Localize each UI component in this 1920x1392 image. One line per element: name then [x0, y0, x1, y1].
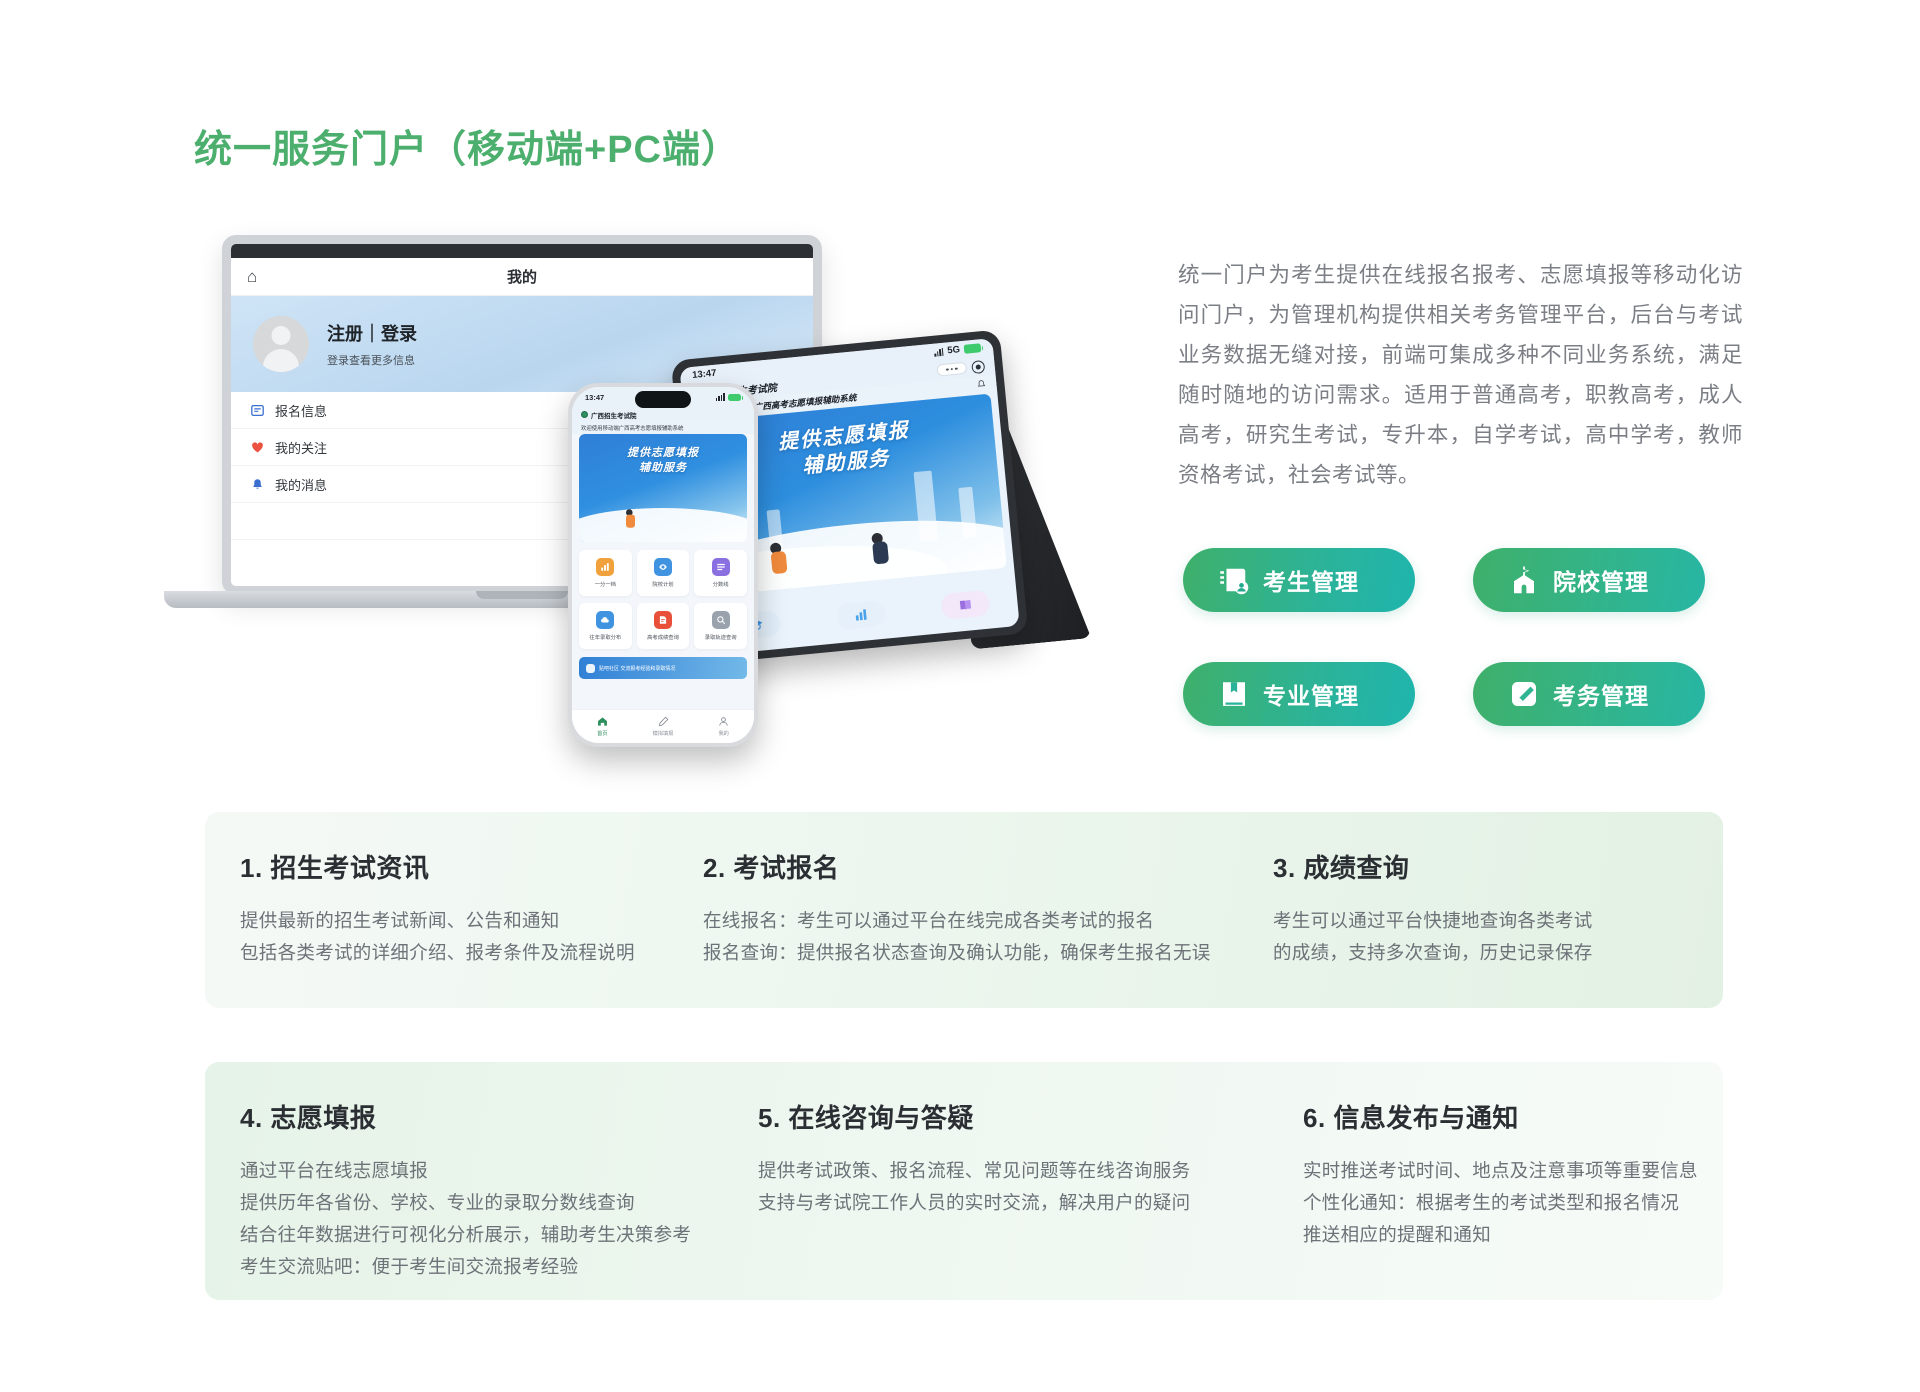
phone-tab-bar[interactable]: 首页 模拟填报 我的	[572, 709, 754, 743]
battery-icon	[964, 343, 982, 354]
feature-card-line: 提供历年各省份、学校、专业的录取分数线查询	[240, 1187, 745, 1219]
laptop-menu-label: 我的关注	[275, 438, 327, 457]
feature-cards-row-1: 1. 招生考试资讯 提供最新的招生考试新闻、公告和通知 包括各类考试的详细介绍、…	[205, 812, 1723, 1008]
laptop-menu-label: 报名信息	[275, 401, 327, 420]
grid-item[interactable]: 录取轨迹查询	[694, 603, 747, 649]
tablet-network-label: 5G	[947, 344, 961, 356]
eye-icon	[654, 558, 672, 576]
laptop-navbar: ⌂ 我的	[231, 258, 813, 296]
grid-item[interactable]: 高考成绩查询	[637, 603, 690, 649]
promo-text: 贴吧社区 交流报考经验和录取情况	[599, 665, 675, 672]
feature-card-line: 考生可以通过平台快捷地查询各类考试	[1273, 905, 1723, 937]
edit-icon	[658, 716, 669, 727]
feature-card-line: 通过平台在线志愿填报	[240, 1155, 745, 1187]
student-figure	[770, 542, 788, 574]
poster-page: 统一服务门户（移动端+PC端） ⌂ 我的 注册｜登录 登录查看更多信息	[0, 0, 1920, 1392]
phone-tab-label: 模拟填报	[653, 730, 674, 737]
button-label: 院校管理	[1553, 563, 1649, 597]
feature-card-line: 个性化通知：根据考生的考试类型和报名情况	[1303, 1187, 1723, 1219]
phone-tab-label: 首页	[597, 730, 607, 737]
phone-brand-label: 广西招生考试院	[591, 410, 637, 420]
phone-promo-banner[interactable]: 贴吧社区 交流报考经验和录取情况	[579, 657, 747, 679]
candidate-card-icon	[1219, 565, 1249, 595]
feature-card-line: 提供考试政策、报名流程、常见问题等在线咨询服务	[758, 1155, 1290, 1187]
phone-welcome-text: 欢迎使用移动端广西高考志愿填报辅助系统	[572, 422, 754, 434]
school-management-button[interactable]: 院校管理	[1473, 548, 1705, 612]
signal-icon	[716, 393, 725, 401]
home-icon	[597, 716, 608, 727]
laptop-nav-title: 我的	[231, 266, 813, 287]
quick-action-chart-icon[interactable]	[836, 600, 886, 630]
signal-icon	[934, 347, 944, 356]
module-button-grid: 考生管理 院校管理 专业管理 考务管理	[1183, 548, 1743, 728]
feature-cards-row-2: 4. 志愿填报 通过平台在线志愿填报 提供历年各省份、学校、专业的录取分数线查询…	[205, 1062, 1723, 1300]
exam-affairs-management-button[interactable]: 考务管理	[1473, 662, 1705, 726]
page-title: 统一服务门户（移动端+PC端）	[194, 118, 740, 173]
school-building-icon	[1509, 565, 1539, 595]
phone-mockup: 13:47 广西招生考试院 欢迎使用移动端广西高考志愿填报辅助系统 提供志愿	[568, 383, 758, 747]
heart-icon	[251, 441, 264, 454]
device-mockup-group: ⌂ 我的 注册｜登录 登录查看更多信息	[150, 235, 1150, 755]
phone-body: 13:47 广西招生考试院 欢迎使用移动端广西高考志愿填报辅助系统 提供志愿	[568, 383, 758, 747]
feature-card-line: 报名查询：提供报名状态查询及确认功能，确保考生报名无误	[703, 937, 1260, 969]
feature-card-title: 5. 在线咨询与答疑	[758, 1098, 1290, 1135]
grid-item-label: 分数线	[713, 580, 729, 588]
tablet-clock: 13:47	[692, 368, 717, 381]
feature-card-line: 包括各类考试的详细介绍、报考条件及流程说明	[240, 937, 690, 969]
laptop-menu-label: 我的消息	[275, 475, 327, 494]
feature-card-3: 3. 成绩查询 考生可以通过平台快捷地查询各类考试 的成绩，支持多次查询，历史记…	[1260, 812, 1723, 1008]
phone-banner-title: 提供志愿填报 辅助服务	[579, 446, 747, 476]
feature-card-title: 1. 招生考试资讯	[240, 848, 690, 885]
feature-card-line: 推送相应的提醒和通知	[1303, 1219, 1723, 1251]
battery-icon	[728, 394, 741, 401]
grid-item[interactable]: 一分一档	[579, 550, 632, 596]
button-label: 考务管理	[1553, 677, 1649, 711]
feature-card-line: 支持与考试院工作人员的实时交流，解决用户的疑问	[758, 1187, 1290, 1219]
register-login-link[interactable]: 注册｜登录	[327, 320, 417, 346]
tablet-capsule-buttons[interactable]	[936, 359, 985, 377]
search-icon	[712, 611, 730, 629]
feature-card-title: 4. 志愿填报	[240, 1098, 745, 1135]
feature-card-5: 5. 在线咨询与答疑 提供考试政策、报名流程、常见问题等在线咨询服务 支持与考试…	[745, 1062, 1290, 1300]
feature-card-line: 提供最新的招生考试新闻、公告和通知	[240, 905, 690, 937]
laptop-base-notch	[476, 591, 568, 599]
form-icon	[251, 404, 264, 417]
doc-icon	[654, 611, 672, 629]
login-subtitle: 登录查看更多信息	[327, 352, 417, 368]
grid-item[interactable]: 院校计划	[637, 550, 690, 596]
grid-item-label: 高考成绩查询	[647, 633, 679, 641]
bell-icon	[251, 478, 264, 491]
portal-description: 统一门户为考生提供在线报名报考、志愿填报等移动化访问门户，为管理机构提供相关考务…	[1178, 255, 1743, 495]
phone-screen: 13:47 广西招生考试院 欢迎使用移动端广西高考志愿填报辅助系统 提供志愿	[572, 387, 754, 743]
more-icon[interactable]	[936, 362, 967, 377]
grid-item-label: 往年录取分布	[589, 633, 621, 641]
feature-card-title: 2. 考试报名	[703, 848, 1260, 885]
phone-tab-label: 我的	[718, 730, 728, 737]
phone-tab-simulate[interactable]: 模拟填报	[633, 716, 694, 737]
grid-item[interactable]: 分数线	[694, 550, 747, 596]
major-management-button[interactable]: 专业管理	[1183, 662, 1415, 726]
brand-logo-icon	[581, 411, 588, 418]
feature-card-line: 的成绩，支持多次查询，历史记录保存	[1273, 937, 1723, 969]
candidate-management-button[interactable]: 考生管理	[1183, 548, 1415, 612]
feature-card-4: 4. 志愿填报 通过平台在线志愿填报 提供历年各省份、学校、专业的录取分数线查询…	[205, 1062, 745, 1300]
phone-app-bar: 广西招生考试院	[572, 407, 754, 422]
button-label: 专业管理	[1263, 677, 1359, 711]
phone-tab-home[interactable]: 首页	[572, 716, 633, 737]
phone-tab-mine[interactable]: 我的	[693, 716, 754, 737]
promo-icon	[586, 664, 595, 673]
feature-card-line: 结合往年数据进行可视化分析展示，辅助考生决策参考	[240, 1219, 745, 1251]
grid-item-label: 院校计划	[652, 580, 673, 588]
feature-card-1: 1. 招生考试资讯 提供最新的招生考试新闻、公告和通知 包括各类考试的详细介绍、…	[205, 812, 690, 1008]
phone-banner[interactable]: 提供志愿填报 辅助服务	[579, 434, 747, 542]
quick-action-book-icon[interactable]	[941, 590, 991, 620]
cloud-icon	[596, 611, 614, 629]
laptop-bezel-strip	[231, 244, 813, 258]
grid-item-label: 录取轨迹查询	[705, 633, 737, 641]
feature-card-line: 在线报名：考生可以通过平台在线完成各类考试的报名	[703, 905, 1260, 937]
button-label: 考生管理	[1263, 563, 1359, 597]
feature-card-title: 6. 信息发布与通知	[1303, 1098, 1723, 1135]
phone-quick-grid[interactable]: 一分一档 院校计划 分数线	[579, 550, 747, 649]
close-circle-icon[interactable]	[971, 359, 985, 373]
book-icon	[1219, 679, 1249, 709]
feature-card-6: 6. 信息发布与通知 实时推送考试时间、地点及注意事项等重要信息 个性化通知：根…	[1290, 1062, 1723, 1300]
grid-item[interactable]: 往年录取分布	[579, 603, 632, 649]
student-figure	[626, 509, 635, 528]
pencil-square-icon	[1509, 679, 1539, 709]
list-icon	[712, 558, 730, 576]
feature-card-2: 2. 考试报名 在线报名：考生可以通过平台在线完成各类考试的报名 报名查询：提供…	[690, 812, 1260, 1008]
feature-card-line: 考生交流贴吧：便于考生间交流报考经验	[240, 1251, 745, 1283]
phone-notch	[635, 391, 691, 408]
user-icon	[718, 716, 729, 727]
avatar	[253, 316, 309, 372]
student-figure	[871, 532, 889, 564]
banner-hill-front	[579, 508, 747, 542]
phone-clock: 13:47	[585, 393, 604, 402]
feature-card-title: 3. 成绩查询	[1273, 848, 1723, 885]
chart-icon	[596, 558, 614, 576]
feature-card-line: 实时推送考试时间、地点及注意事项等重要信息	[1303, 1155, 1723, 1187]
grid-item-label: 一分一档	[595, 580, 616, 588]
bell-icon[interactable]	[976, 379, 987, 392]
